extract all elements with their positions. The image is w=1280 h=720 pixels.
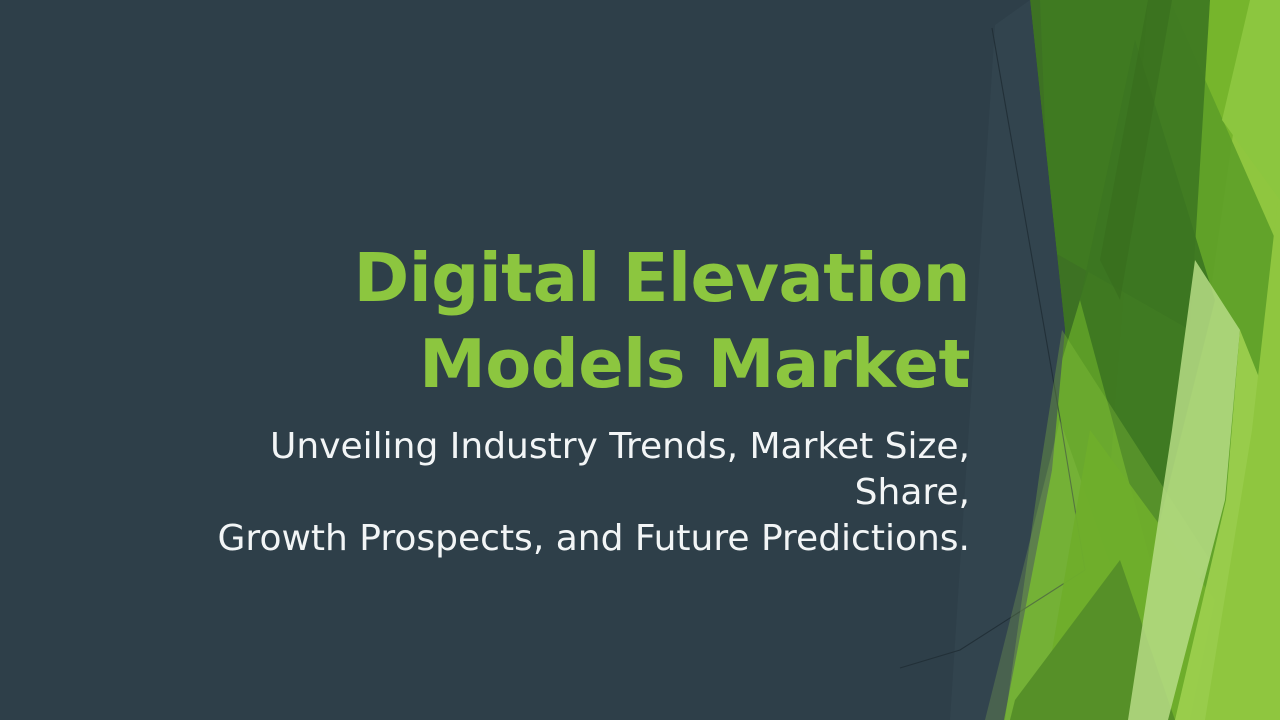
title-block: Digital Elevation Models Market Unveilin…: [150, 236, 970, 562]
slide-title: Digital Elevation Models Market: [150, 236, 970, 408]
title-slide: Digital Elevation Models Market Unveilin…: [0, 0, 1280, 720]
slide-subtitle: Unveiling Industry Trends, Market Size, …: [150, 424, 970, 562]
